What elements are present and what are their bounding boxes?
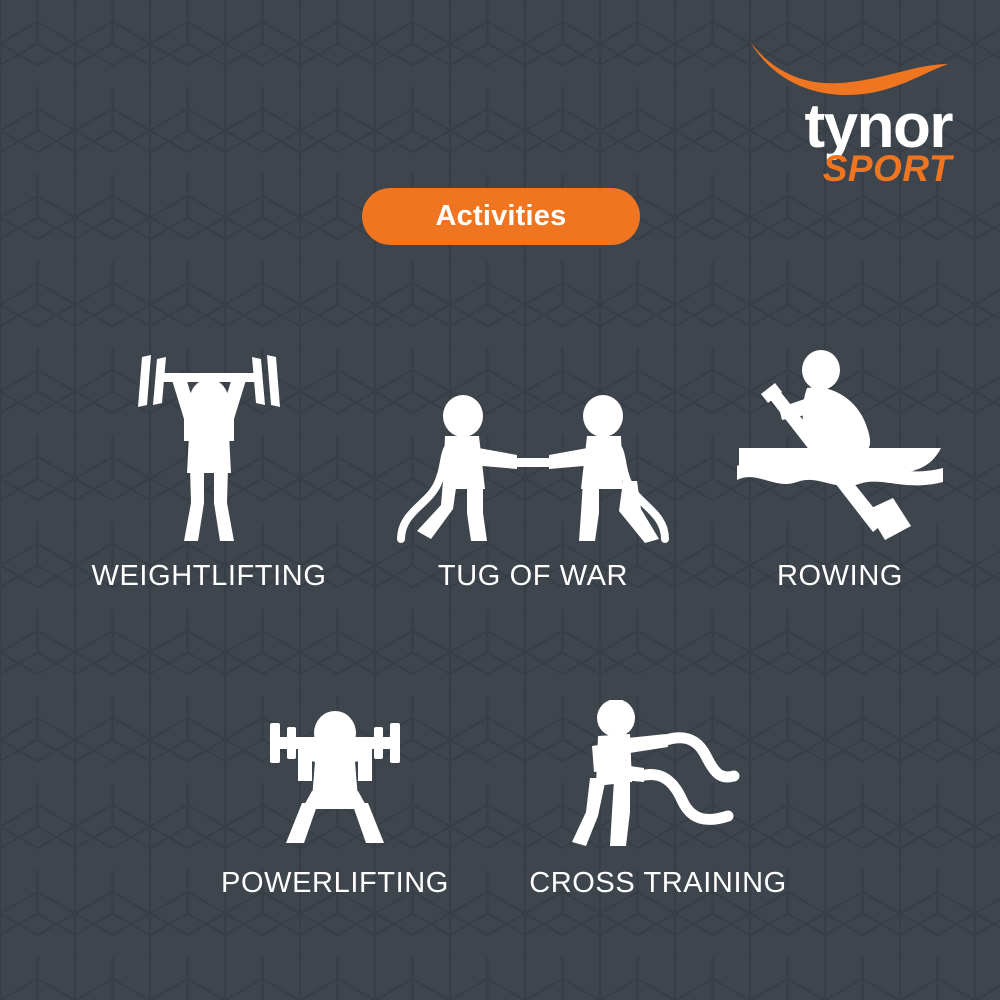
label-container: CROSS TRAINING (498, 868, 818, 898)
activity-item-weightlifting: WEIGHTLIFTING (44, 330, 374, 591)
powerlifting-icon (260, 705, 410, 850)
activity-label-cross-training: CROSS TRAINING (498, 868, 818, 898)
activities-poster: tynor SPORT Activities (0, 0, 1000, 1000)
activity-item-powerlifting: POWERLIFTING (180, 690, 490, 898)
cross-training-icon (568, 700, 748, 850)
weightlifting-icon (134, 353, 284, 545)
activities-badge: Activities (362, 188, 640, 245)
label-container: TUG OF WAR (378, 561, 688, 591)
activity-label-rowing: ROWING (690, 561, 990, 591)
activity-item-rowing: ROWING (690, 330, 990, 591)
activity-label-powerlifting: POWERLIFTING (180, 868, 490, 898)
label-container: WEIGHTLIFTING (44, 561, 374, 591)
activity-label-tug-of-war: TUG OF WAR (378, 561, 688, 591)
activity-item-tug-of-war: TUG OF WAR (378, 330, 688, 591)
activity-item-cross-training: CROSS TRAINING (498, 690, 818, 898)
icon-container (690, 330, 990, 545)
brand-logo: tynor SPORT (744, 38, 956, 188)
label-container: POWERLIFTING (180, 868, 490, 898)
rowing-icon (735, 350, 945, 545)
activities-badge-label: Activities (436, 200, 567, 233)
icon-container (378, 330, 688, 545)
tug-of-war-icon (393, 393, 673, 545)
activity-label-weightlifting: WEIGHTLIFTING (44, 561, 374, 591)
swoosh-icon (744, 38, 954, 96)
logo-sub-wordmark: SPORT (744, 152, 956, 186)
icon-container (180, 690, 490, 850)
icon-container (498, 690, 818, 850)
label-container: ROWING (690, 561, 990, 591)
icon-container (44, 330, 374, 545)
